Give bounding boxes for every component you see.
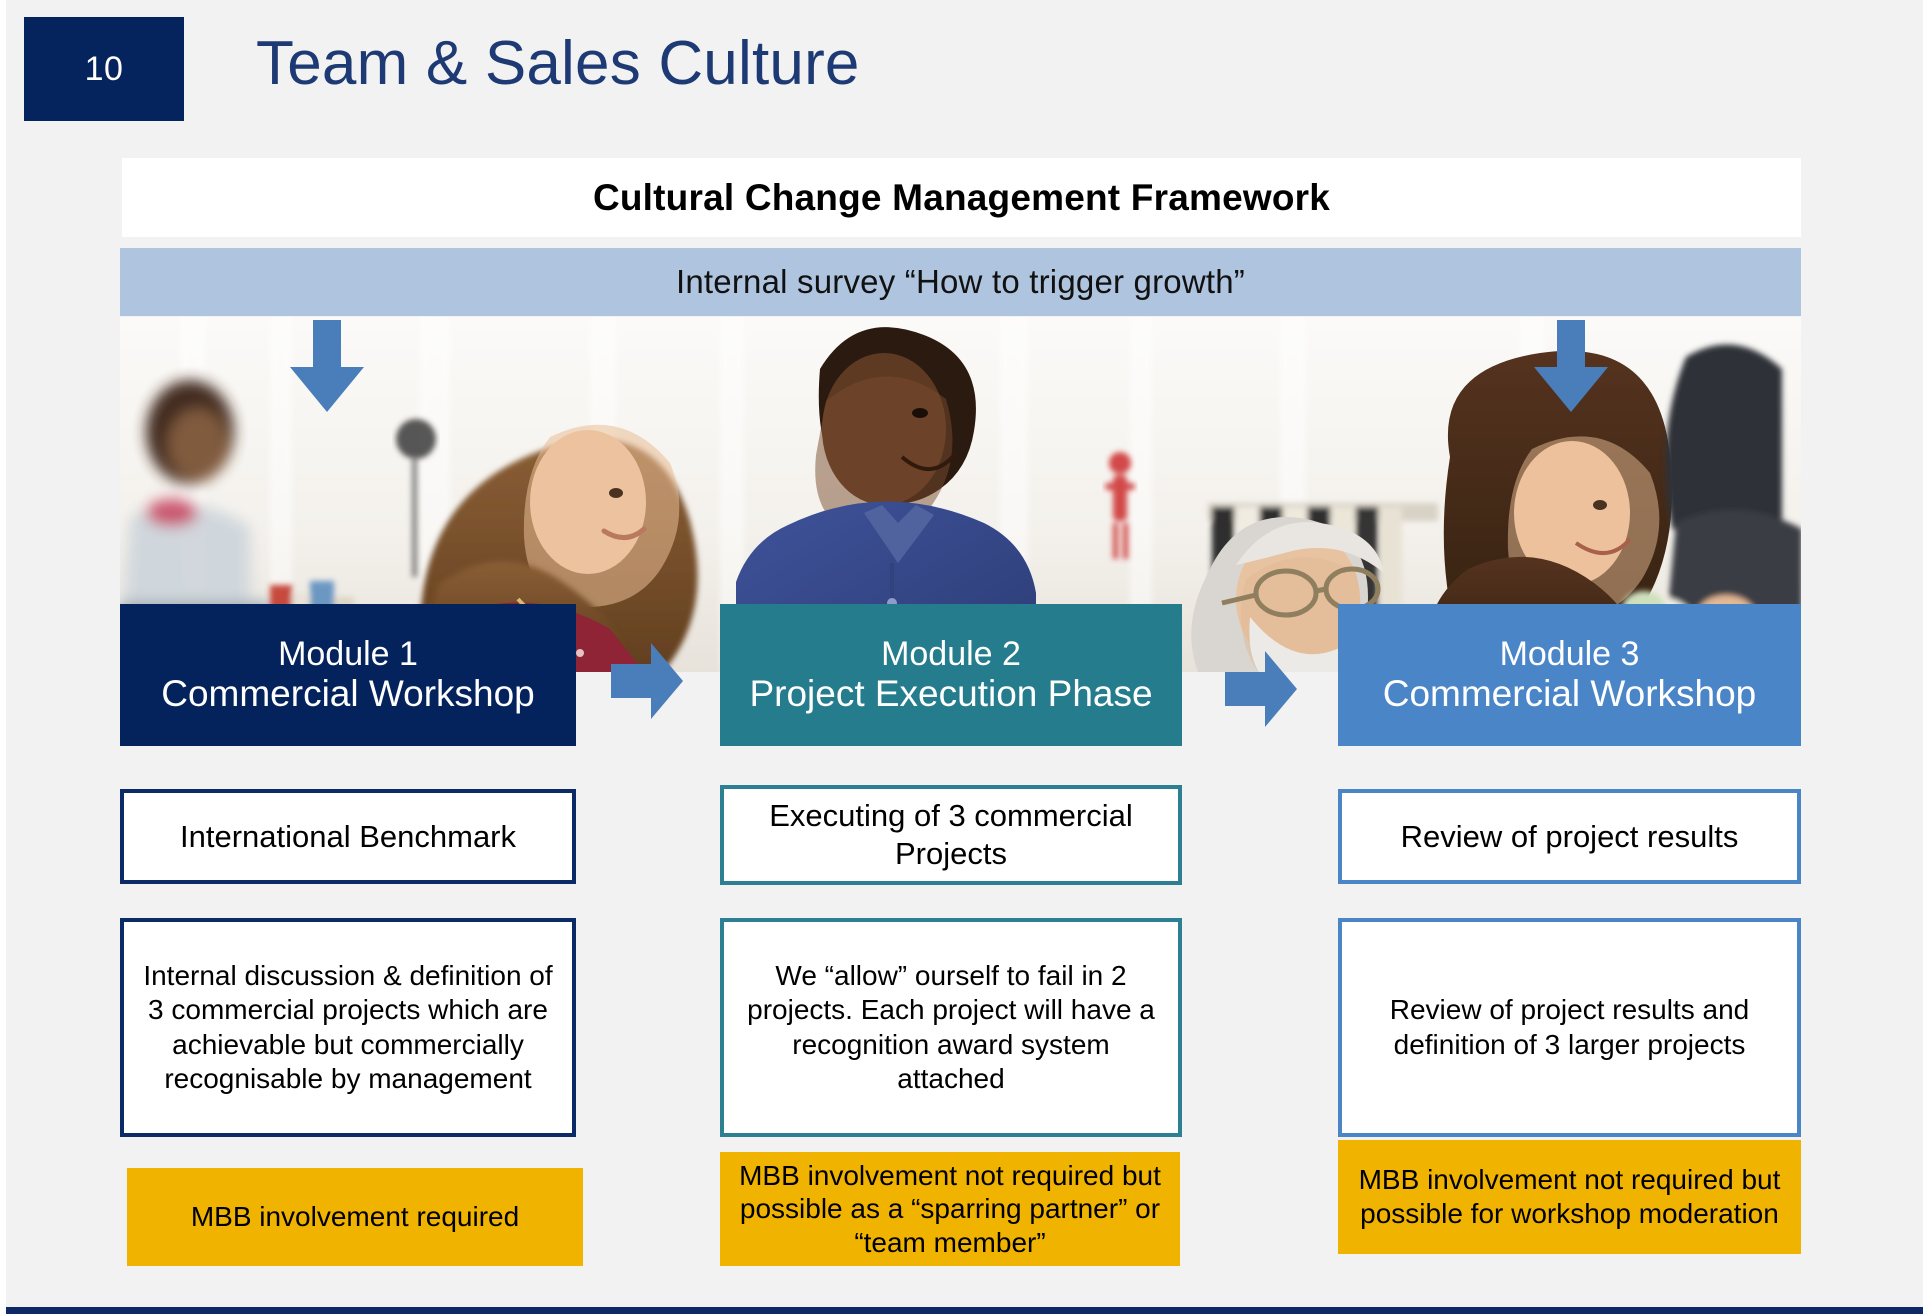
module-2-number-label: Module 2 — [881, 635, 1021, 673]
module-bar-1: Module 1 Commercial Workshop — [120, 604, 576, 746]
framework-title-band: Cultural Change Management Framework — [122, 158, 1801, 237]
framework-title-label: Cultural Change Management Framework — [593, 177, 1330, 219]
module-3-description-box: Review of project results and definition… — [1338, 918, 1801, 1137]
module-1-description-box: Internal discussion & definition of 3 co… — [120, 918, 576, 1137]
bottom-rule — [6, 1307, 1923, 1314]
module-2-headline-box: Executing of 3 commercial Projects — [720, 785, 1182, 885]
page-number-label: 10 — [85, 50, 124, 89]
module-1-name-label: Commercial Workshop — [161, 673, 535, 714]
module-1-headline-label: International Benchmark — [166, 818, 530, 856]
page-title: Team & Sales Culture — [256, 28, 860, 99]
module-2-description-box: We “allow” ourself to fail in 2 projects… — [720, 918, 1182, 1137]
module-2-headline-label: Executing of 3 commercial Projects — [724, 797, 1178, 873]
module-1-headline-box: International Benchmark — [120, 789, 576, 884]
module-3-name-label: Commercial Workshop — [1383, 673, 1757, 714]
slide-canvas: 10 Team & Sales Culture Cultural Change … — [0, 0, 1928, 1314]
down-arrow-icon — [1534, 320, 1608, 412]
survey-band-label: Internal survey “How to trigger growth” — [676, 263, 1245, 301]
module-3-headline-box: Review of project results — [1338, 789, 1801, 884]
module-2-name-label: Project Execution Phase — [749, 673, 1152, 714]
module-1-description-label: Internal discussion & definition of 3 co… — [124, 959, 572, 1096]
down-arrow-icon — [290, 320, 364, 412]
module-3-headline-label: Review of project results — [1387, 818, 1753, 856]
module-1-number-label: Module 1 — [278, 635, 418, 673]
module-3-number-label: Module 3 — [1500, 635, 1640, 673]
page-number-badge: 10 — [24, 17, 184, 121]
module-3-mbb-note: MBB involvement not required but possibl… — [1338, 1140, 1801, 1254]
module-3-description-label: Review of project results and definition… — [1342, 993, 1797, 1061]
module-1-mbb-label: MBB involvement required — [179, 1200, 531, 1234]
module-2-mbb-label: MBB involvement not required but possibl… — [720, 1159, 1180, 1260]
module-bar-3: Module 3 Commercial Workshop — [1338, 604, 1801, 746]
survey-band: Internal survey “How to trigger growth” — [120, 248, 1801, 316]
right-arrow-icon — [611, 643, 683, 719]
right-arrow-icon — [1225, 651, 1297, 727]
module-1-mbb-note: MBB involvement required — [127, 1168, 583, 1266]
module-bar-2: Module 2 Project Execution Phase — [720, 604, 1182, 746]
module-3-mbb-label: MBB involvement not required but possibl… — [1338, 1163, 1801, 1230]
module-2-description-label: We “allow” ourself to fail in 2 projects… — [724, 959, 1178, 1096]
module-2-mbb-note: MBB involvement not required but possibl… — [720, 1152, 1180, 1266]
